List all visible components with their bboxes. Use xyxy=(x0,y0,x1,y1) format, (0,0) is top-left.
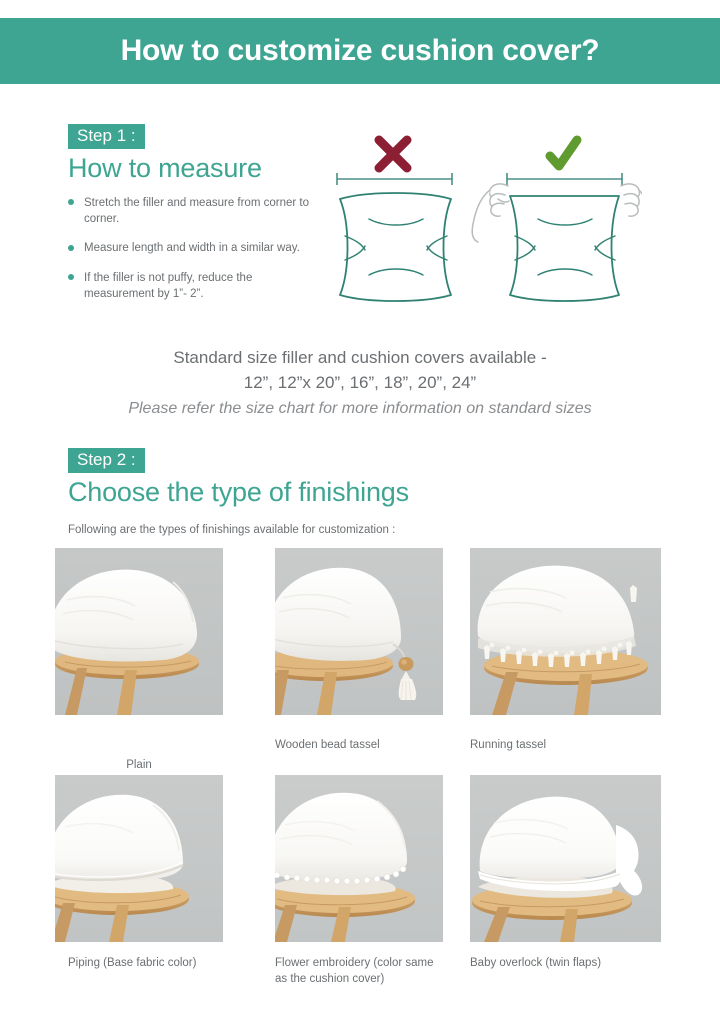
step-1-bullet-list: Stretch the filler and measure from corn… xyxy=(68,195,318,303)
caption-wooden-bead-tassel: Wooden bead tassel xyxy=(275,738,455,754)
step-1-heading: How to measure xyxy=(68,154,318,184)
caption-baby-overlock: Baby overlock (twin flaps) xyxy=(470,956,660,972)
pillow-on-stool-photo xyxy=(55,548,223,715)
step-2-subtitle: Following are the types of finishings av… xyxy=(68,522,668,538)
caption-piping: Piping (Base fabric color) xyxy=(68,956,248,972)
bullet-dot-icon xyxy=(68,245,74,251)
header-banner: How to customize cushion cover? xyxy=(0,18,720,84)
standard-sizes-line-1: Standard size filler and cushion covers … xyxy=(0,346,720,371)
measure-diagram xyxy=(312,132,642,317)
finishing-photo-wooden-bead-tassel[interactable] xyxy=(275,548,443,715)
bullet-text: Stretch the filler and measure from corn… xyxy=(84,197,309,225)
list-item: Measure length and width in a similar wa… xyxy=(68,240,318,256)
list-item: Stretch the filler and measure from corn… xyxy=(68,195,318,228)
finishing-photo-running-tassel[interactable] xyxy=(470,548,661,715)
finishing-photo-plain[interactable] xyxy=(55,548,223,715)
pillow-on-stool-photo xyxy=(470,548,661,715)
caption-running-tassel: Running tassel xyxy=(470,738,650,754)
step-2-heading: Choose the type of finishings xyxy=(68,478,668,508)
hand-right-icon xyxy=(621,184,642,220)
measurement-bar-right xyxy=(507,173,622,185)
standard-sizes-block: Standard size filler and cushion covers … xyxy=(0,346,720,421)
measurement-bar-wrong xyxy=(337,173,452,185)
check-icon xyxy=(550,140,577,166)
hand-left-icon xyxy=(472,184,509,242)
finishing-photo-baby-overlock[interactable] xyxy=(470,775,661,942)
bullet-text: If the filler is not puffy, reduce the m… xyxy=(84,272,252,300)
page-title: How to customize cushion cover? xyxy=(121,36,600,66)
caption-flower-embroidery: Flower embroidery (color same as the cus… xyxy=(275,956,440,987)
size-chart-note: Please refer the size chart for more inf… xyxy=(0,397,720,421)
pillow-outline-wrong xyxy=(340,193,451,301)
bullet-text: Measure length and width in a similar wa… xyxy=(84,242,300,254)
list-item: If the filler is not puffy, reduce the m… xyxy=(68,270,318,303)
step-1-badge: Step 1 : xyxy=(68,124,145,149)
pillow-on-stool-photo xyxy=(275,548,443,715)
cross-icon xyxy=(379,140,407,168)
finishing-photo-piping[interactable] xyxy=(55,775,223,942)
pillow-on-stool-photo xyxy=(470,775,661,942)
pillow-outline-right xyxy=(510,196,619,301)
finishing-photo-flower-embroidery[interactable] xyxy=(275,775,443,942)
caption-plain: Plain xyxy=(55,758,223,774)
pillow-on-stool-photo xyxy=(55,775,223,942)
standard-sizes-line-2: 12”, 12”x 20”, 16”, 18”, 20”, 24” xyxy=(0,371,720,396)
step-1-block: Step 1 : How to measure Stretch the fill… xyxy=(68,124,318,315)
infographic-page: How to customize cushion cover? Step 1 :… xyxy=(0,0,720,1020)
step-2-block: Step 2 : Choose the type of finishings F… xyxy=(68,448,668,538)
pillow-on-stool-photo xyxy=(275,775,443,942)
bullet-dot-icon xyxy=(68,274,74,280)
bullet-dot-icon xyxy=(68,199,74,205)
step-2-badge: Step 2 : xyxy=(68,448,145,473)
